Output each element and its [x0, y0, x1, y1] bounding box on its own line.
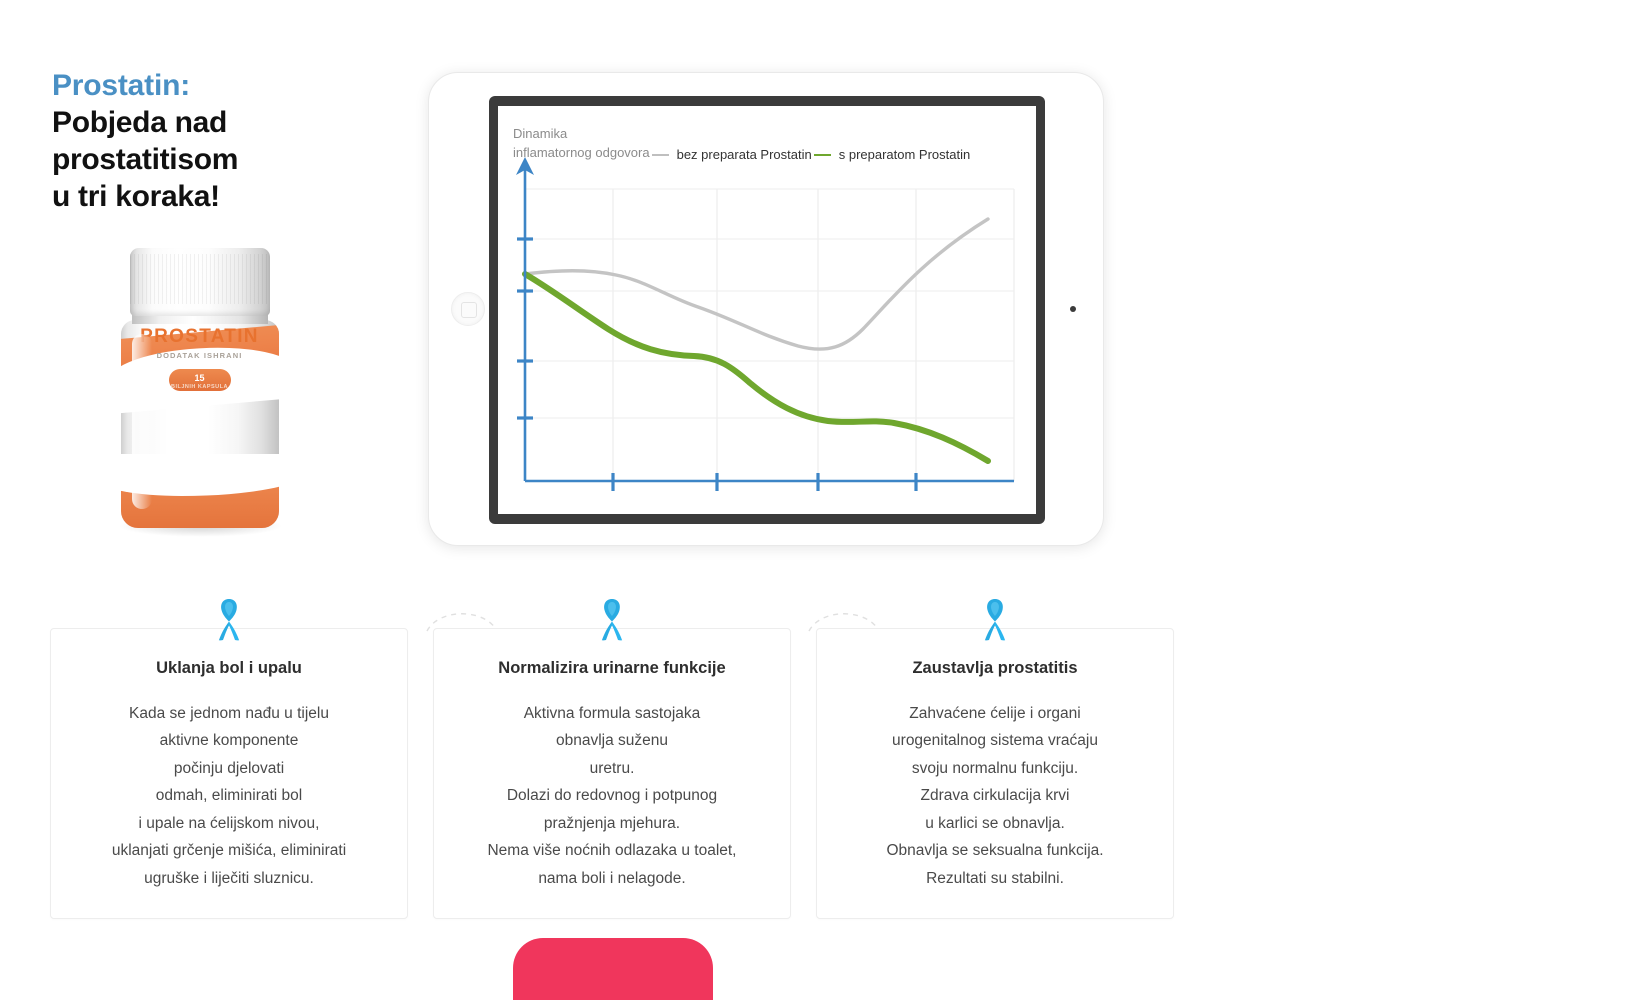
bottle-count-badge: 15 BILJNIH KAPSULA: [169, 369, 231, 391]
series-line-with-prostatin: [525, 274, 988, 461]
chart-plot: [498, 151, 1036, 501]
bottle-highlight: [132, 334, 152, 509]
chart-gridlines-vertical: [613, 189, 1014, 481]
benefit-card-1-body: Kada se jednom nađu u tijelu aktivne kom…: [67, 700, 391, 892]
home-button-icon[interactable]: [451, 292, 485, 326]
benefit-card-3: Zaustavlja prostatitis Zahvaćene ćelije …: [816, 628, 1174, 919]
chart-gridlines-horizontal: [525, 189, 1014, 418]
benefit-cards: Uklanja bol i upalu Kada se jednom nađu …: [50, 628, 1174, 919]
ribbon-icon: [982, 599, 1008, 641]
benefit-card-3-body: Zahvaćene ćelije i organi urogenitalnog …: [833, 700, 1157, 892]
headline-main: Pobjeda nad prostatitisom u tri koraka!: [52, 105, 382, 216]
bottle-count-value: 15: [169, 373, 231, 383]
benefit-card-3-title: Zaustavlja prostatitis: [833, 659, 1157, 678]
ribbon-icon: [216, 599, 242, 641]
tablet-screen-bezel: Dinamika inflamatornog odgovora bez prep…: [489, 96, 1045, 524]
benefit-card-1-title: Uklanja bol i upalu: [67, 659, 391, 678]
headline-brand: Prostatin:: [52, 68, 382, 105]
bottle-count-unit: BILJNIH KAPSULA: [169, 384, 231, 390]
page-headline: Prostatin: Pobjeda nad prostatitisom u t…: [52, 68, 382, 216]
benefit-card-2: Normalizira urinarne funkcije Aktivna fo…: [433, 628, 791, 919]
benefit-card-2-title: Normalizira urinarne funkcije: [450, 659, 774, 678]
benefit-card-2-body: Aktivna formula sastojaka obnavlja sužen…: [450, 700, 774, 892]
ribbon-icon: [599, 599, 625, 641]
chart-container: Dinamika inflamatornog odgovora bez prep…: [498, 106, 1036, 514]
camera-dot-icon: [1070, 306, 1076, 312]
benefit-card-1: Uklanja bol i upalu Kada se jednom nađu …: [50, 628, 408, 919]
bottle-cap: [130, 248, 270, 316]
product-bottle-image: PROSTATIN DODATAK ISHRANI 15 BILJNIH KAP…: [112, 248, 287, 533]
cta-order-button[interactable]: [513, 938, 713, 1000]
tablet-device: Dinamika inflamatornog odgovora bez prep…: [428, 72, 1104, 546]
